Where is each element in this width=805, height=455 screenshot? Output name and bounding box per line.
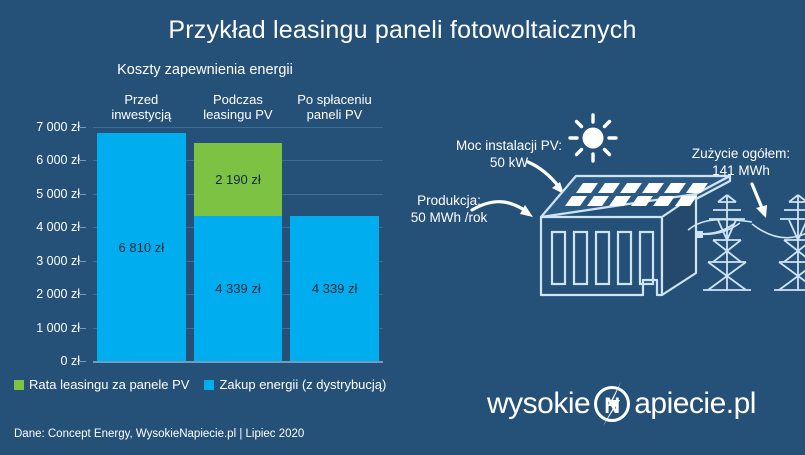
- annotation-consumption-line1: Zużycie ogółem:: [677, 145, 805, 162]
- category-header-0-line2: inwestycją: [93, 107, 190, 122]
- y-axis-tick-label: 4 000 zł: [36, 220, 80, 234]
- annotation-pv-power-line2: 50 kW: [434, 154, 584, 171]
- chart-bar: 4 339 zł2 190 zł: [194, 127, 283, 361]
- category-header-2-line1: Po spłaceniu: [286, 92, 383, 107]
- logo-mark-letter: N: [605, 393, 620, 418]
- annotation-consumption: Zużycie ogółem: 141 MWh: [677, 145, 805, 179]
- category-header-1: Podczas leasingu PV: [190, 92, 287, 122]
- chart-bar: 6 810 zł: [97, 127, 186, 361]
- legend-item[interactable]: Rata leasingu za panele PV: [14, 377, 189, 392]
- chart-bar-segment: 2 190 zł: [194, 143, 283, 216]
- chart-axis-line: [93, 361, 383, 363]
- site-logo[interactable]: wysokie N apiecie.pl: [487, 378, 797, 430]
- infographic-canvas: Przykład leasingu paneli fotowoltaicznyc…: [0, 0, 805, 455]
- source-note: Dane: Concept Energy, WysokieNapiecie.pl…: [14, 428, 304, 440]
- y-axis-tick-mark: [80, 127, 86, 128]
- annotation-production-line1: Produkcja:: [396, 192, 502, 209]
- category-header-0-line1: Przed: [93, 92, 190, 107]
- y-axis-tick-mark: [80, 194, 86, 195]
- annotation-consumption-line2: 141 MWh: [677, 162, 805, 179]
- legend-label: Zakup energii (z dystrybucją): [219, 377, 386, 392]
- legend-swatch-icon: [14, 380, 24, 390]
- logo-text: wysokie N apiecie.pl: [487, 378, 797, 430]
- y-axis-tick-label: 7 000 zł: [36, 120, 80, 134]
- logo-text-part1: wysokie: [487, 387, 590, 421]
- logo-text-part2: apiecie.pl: [634, 387, 756, 421]
- legend-label: Rata leasingu za panele PV: [29, 377, 189, 392]
- y-axis-tick-label: 2 000 zł: [36, 287, 80, 301]
- y-axis-tick-mark: [80, 361, 86, 362]
- power-line-icon: [688, 220, 805, 238]
- chart-plot-area: 6 810 zł4 339 zł2 190 zł4 339 zł: [93, 127, 383, 361]
- annotation-production-line2: 50 MWh /rok: [396, 209, 502, 226]
- annotation-pv-power-line1: Moc instalacji PV:: [434, 137, 584, 154]
- annotation-production: Produkcja: 50 MWh /rok: [396, 192, 502, 226]
- annotation-pv-power: Moc instalacji PV: 50 kW: [434, 137, 584, 171]
- power-pylon-icon: [774, 195, 805, 290]
- logo-mark-icon: N: [590, 382, 634, 426]
- chart-bar: 4 339 zł: [290, 127, 379, 361]
- legend-item[interactable]: Zakup energii (z dystrybucją): [204, 377, 386, 392]
- category-header-1-line2: leasingu PV: [190, 107, 287, 122]
- chart-bar-segment: 4 339 zł: [290, 216, 379, 361]
- arrow-consumption-head-icon: [756, 205, 767, 218]
- y-axis-tick-mark: [80, 227, 86, 228]
- category-header-1-line1: Podczas: [190, 92, 287, 107]
- legend-swatch-icon: [204, 380, 214, 390]
- category-header-2-line2: paneli PV: [286, 107, 383, 122]
- arrow-consumption-icon: [752, 184, 762, 208]
- chart-y-axis: 0 zł1 000 zł2 000 zł3 000 zł4 000 zł5 00…: [0, 127, 86, 361]
- y-axis-tick-mark: [80, 261, 86, 262]
- system-diagram: Moc instalacji PV: 50 kW Produkcja: 50 M…: [400, 110, 805, 325]
- y-axis-tick-mark: [80, 328, 86, 329]
- page-title: Przykład leasingu paneli fotowoltaicznyc…: [0, 16, 805, 45]
- power-pylon-icon: [703, 195, 751, 290]
- y-axis-tick-label: 3 000 zł: [36, 254, 80, 268]
- category-header-0: Przed inwestycją: [93, 92, 190, 122]
- chart-bar-segment: 6 810 zł: [97, 133, 186, 361]
- y-axis-tick-label: 5 000 zł: [36, 187, 80, 201]
- y-axis-tick-mark: [80, 294, 86, 295]
- chart-category-headers: Przed inwestycją Podczas leasingu PV Po …: [93, 92, 383, 122]
- chart-title: Koszty zapewnienia energii: [10, 62, 400, 78]
- category-header-2: Po spłaceniu paneli PV: [286, 92, 383, 122]
- y-axis-tick-label: 0 zł: [61, 354, 80, 368]
- y-axis-tick-mark: [80, 160, 86, 161]
- y-axis-tick-label: 6 000 zł: [36, 153, 80, 167]
- chart-bar-segment: 4 339 zł: [194, 216, 283, 361]
- y-axis-tick-label: 1 000 zł: [36, 321, 80, 335]
- chart-legend: Rata leasingu za panele PVZakup energii …: [14, 377, 395, 392]
